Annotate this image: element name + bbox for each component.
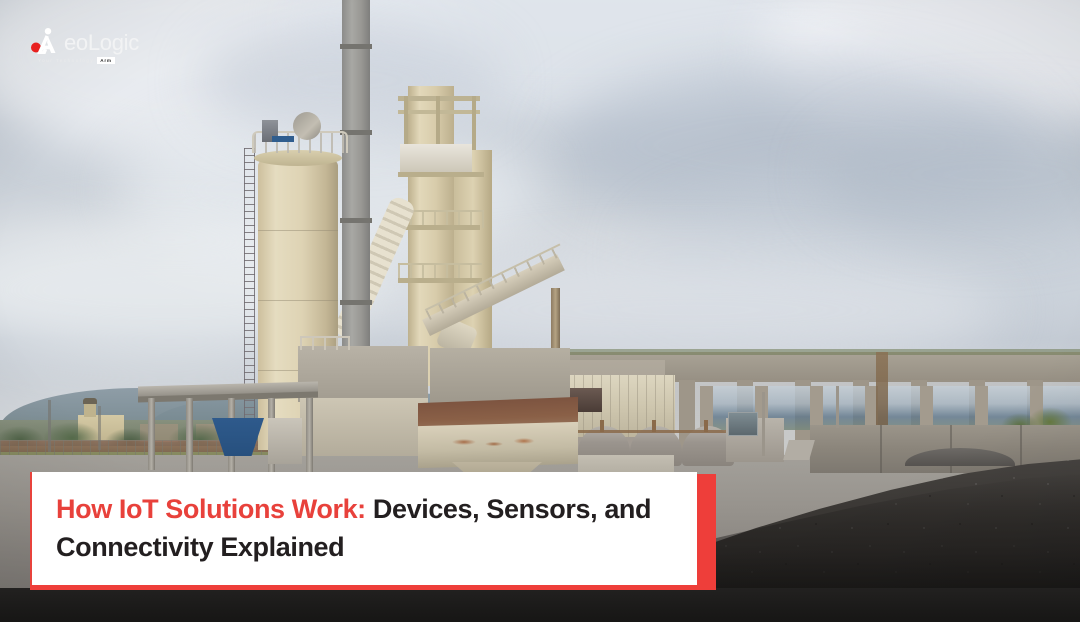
title-banner: How IoT Solutions Work: Devices, Sensors…	[30, 470, 716, 590]
silo-seam	[258, 300, 338, 301]
silo-ladder	[244, 148, 255, 448]
plant-base-block	[300, 398, 428, 456]
tower-platform	[398, 172, 484, 177]
utility-pole	[48, 400, 51, 452]
tower-platform	[398, 278, 482, 283]
logo-tagline-badge: Arm	[97, 57, 115, 64]
plant-base-block	[430, 348, 570, 404]
logo-word-suffix: Logic	[88, 32, 139, 54]
utility-pole	[836, 386, 839, 428]
canopy-post	[148, 398, 155, 470]
logo-a-mark-icon	[30, 28, 64, 54]
page-title: How IoT Solutions Work: Devices, Sensors…	[56, 491, 673, 566]
banner-bottom-edge	[30, 585, 716, 590]
silo-seam	[258, 230, 338, 231]
wall-seam	[880, 425, 882, 473]
stack-band	[340, 218, 372, 223]
logo-tagline: Your Technology Arm	[38, 57, 140, 64]
stack-band	[340, 44, 372, 49]
control-cabinet	[268, 418, 302, 464]
bottom-dark-bar	[0, 588, 1080, 622]
screenshot-stage: eo Logic Your Technology Arm How IoT Sol…	[0, 0, 1080, 622]
logo-mark-row: eo Logic	[30, 30, 140, 54]
banner-accent-bar	[697, 474, 716, 590]
rust-stain	[452, 436, 542, 450]
canopy-post	[306, 398, 313, 478]
logo-tagline-text: Your Technology	[38, 58, 94, 63]
silo-blue-marker	[272, 136, 294, 142]
banner-white-panel: How IoT Solutions Work: Devices, Sensors…	[32, 472, 697, 585]
tower-post	[472, 96, 476, 150]
loader-cab	[728, 412, 758, 436]
tower-post	[436, 96, 440, 150]
utility-pole	[762, 392, 765, 456]
platform-railing	[300, 336, 350, 350]
tank-pipe-rail	[578, 430, 738, 433]
canopy-post	[186, 398, 193, 472]
tower-platform-head	[400, 144, 472, 172]
silo-rotor-disc	[293, 112, 321, 140]
utility-pole	[98, 406, 101, 450]
tower-platform	[398, 225, 480, 230]
stack-band	[340, 300, 372, 305]
logo-word-prefix: eo	[64, 32, 88, 54]
exhaust-stack	[342, 0, 370, 360]
tower-post	[404, 96, 408, 150]
wall-moss-top	[505, 349, 1080, 355]
title-accent-text: How IoT Solutions Work:	[56, 494, 366, 524]
aeologic-logo[interactable]: eo Logic Your Technology Arm	[30, 30, 140, 70]
